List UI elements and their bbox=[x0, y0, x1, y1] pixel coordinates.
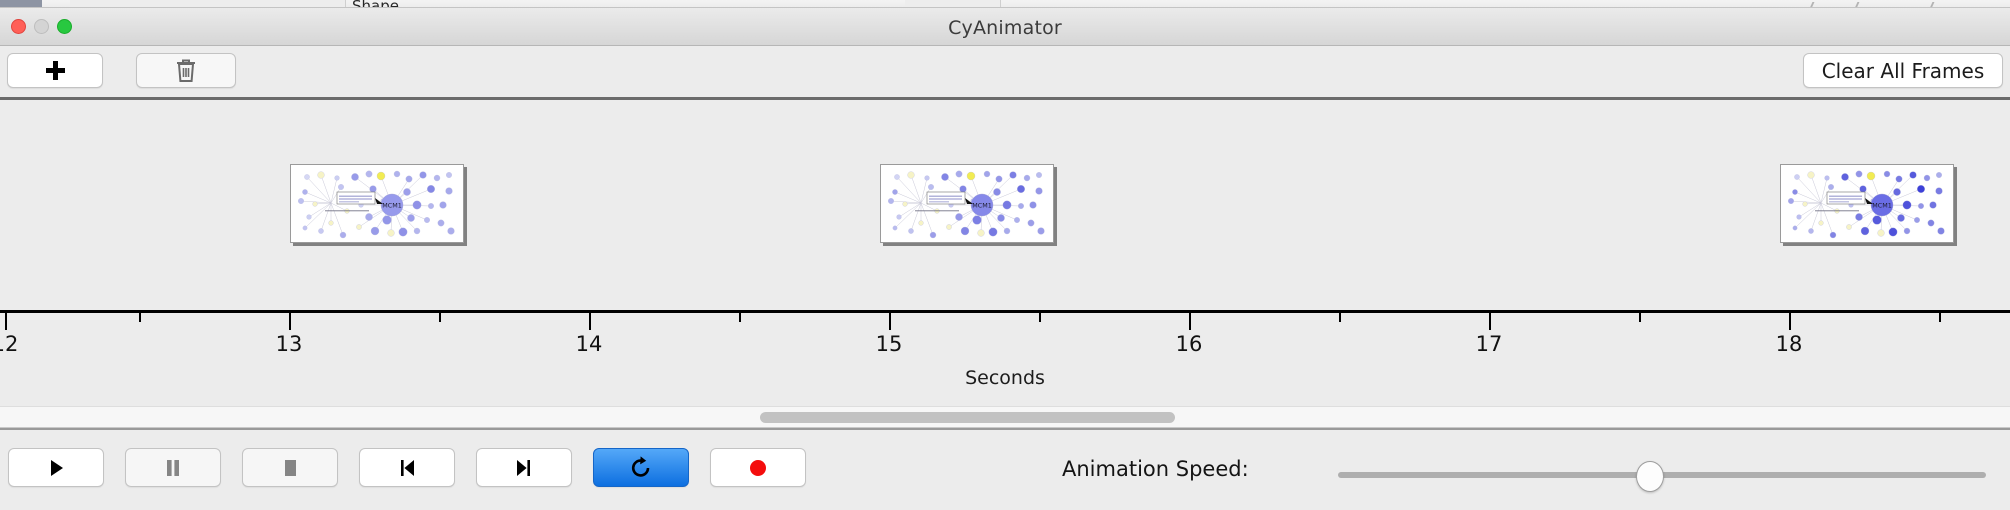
pause-button[interactable] bbox=[125, 448, 221, 487]
pause-icon bbox=[158, 455, 188, 481]
animation-speed-slider[interactable] bbox=[1338, 472, 1986, 478]
loop-icon bbox=[626, 455, 656, 481]
axis-tick-minor bbox=[139, 313, 141, 322]
axis-tick-minor bbox=[1939, 313, 1941, 322]
axis-tick-major bbox=[1789, 313, 1791, 330]
skip-back-icon bbox=[392, 455, 422, 481]
axis-tick-label: 17 bbox=[1476, 332, 1503, 356]
axis-tick-major bbox=[589, 313, 591, 330]
axis-tick-minor bbox=[1339, 313, 1341, 322]
record-icon bbox=[743, 455, 773, 481]
timeline-axis: Seconds 12131415161718 bbox=[0, 310, 2010, 406]
axis-tick-label: 13 bbox=[276, 332, 303, 356]
axis-title-label: Seconds bbox=[0, 367, 2010, 389]
axis-tick-label: 18 bbox=[1776, 332, 1803, 356]
axis-tick-label: 15 bbox=[876, 332, 903, 356]
timeline-horizontal-scrollbar[interactable] bbox=[0, 406, 2010, 428]
axis-tick-major bbox=[1189, 313, 1191, 330]
plus-icon bbox=[46, 61, 65, 80]
title-bar: CyAnimator bbox=[0, 8, 2010, 46]
play-button[interactable] bbox=[8, 448, 104, 487]
delete-frame-button[interactable] bbox=[136, 53, 236, 88]
cyanimator-window: CyAnimator Clear All Frames MCM1MCM1MCM1… bbox=[0, 8, 2010, 510]
record-button[interactable] bbox=[710, 448, 806, 487]
axis-tick-minor bbox=[1039, 313, 1041, 322]
axis-tick-minor bbox=[1639, 313, 1641, 322]
axis-tick-label: 14 bbox=[576, 332, 603, 356]
animation-speed-label: Animation Speed: bbox=[1062, 457, 1249, 481]
frame-thumbnail-1[interactable]: MCM1 bbox=[290, 164, 464, 243]
svg-text:MCM1: MCM1 bbox=[972, 202, 992, 210]
axis-tick-minor bbox=[439, 313, 441, 322]
axis-tick-major bbox=[889, 313, 891, 330]
trash-icon bbox=[175, 58, 197, 84]
axis-tick-minor bbox=[739, 313, 741, 322]
stop-icon bbox=[275, 455, 305, 481]
axis-tick-major bbox=[289, 313, 291, 330]
animation-speed-slider-knob[interactable] bbox=[1636, 461, 1664, 492]
axis-tick-major bbox=[5, 313, 7, 330]
toolbar: Clear All Frames bbox=[0, 46, 2010, 100]
loop-button[interactable] bbox=[593, 448, 689, 487]
svg-text:MCM1: MCM1 bbox=[1872, 202, 1892, 210]
frame-thumbnail-2[interactable]: MCM1 bbox=[880, 164, 1054, 243]
scrollbar-thumb[interactable] bbox=[760, 412, 1175, 423]
stop-button[interactable] bbox=[242, 448, 338, 487]
playback-controls-bar: Animation Speed: bbox=[0, 428, 2010, 504]
skip-forward-icon bbox=[509, 455, 539, 481]
window-title: CyAnimator bbox=[0, 17, 2010, 39]
skip-to-start-button[interactable] bbox=[359, 448, 455, 487]
frame-thumbnail-3[interactable]: MCM1 bbox=[1780, 164, 1954, 243]
axis-tick-label: 12 bbox=[0, 332, 18, 356]
svg-text:MCM1: MCM1 bbox=[382, 202, 402, 210]
add-frame-button[interactable] bbox=[7, 53, 103, 88]
axis-tick-major bbox=[1489, 313, 1491, 330]
skip-to-end-button[interactable] bbox=[476, 448, 572, 487]
play-icon bbox=[41, 455, 71, 481]
axis-tick-label: 16 bbox=[1176, 332, 1203, 356]
axis-line bbox=[0, 310, 2010, 313]
frames-timeline-area[interactable]: MCM1MCM1MCM1 bbox=[0, 100, 2010, 310]
clear-all-frames-button[interactable]: Clear All Frames bbox=[1803, 53, 2003, 88]
